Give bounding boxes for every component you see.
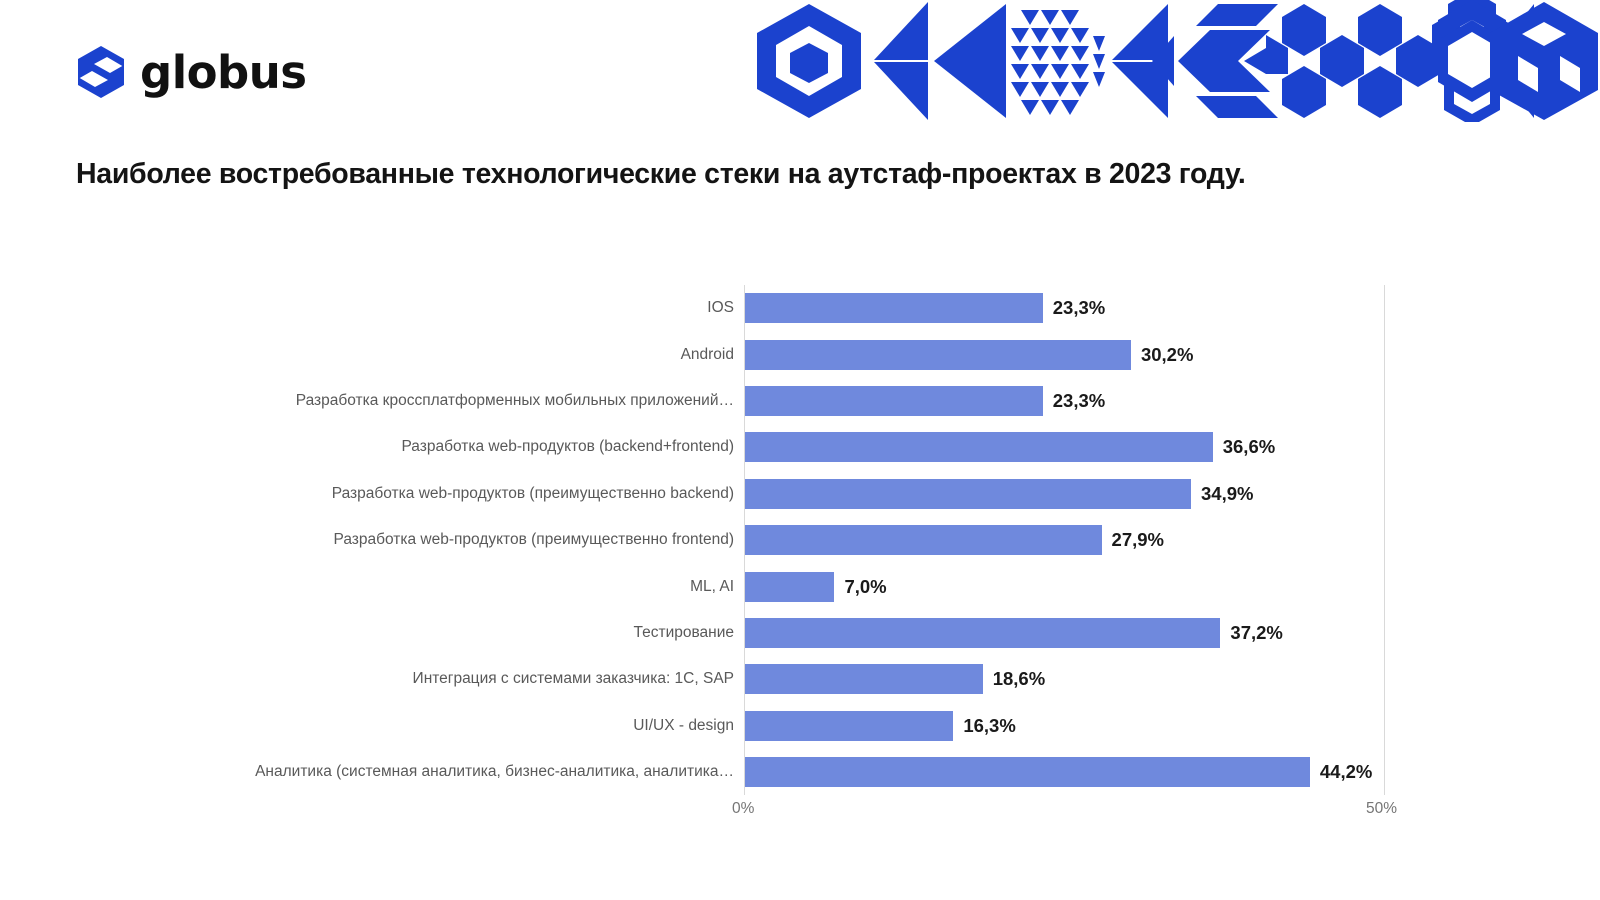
bar	[745, 479, 1191, 509]
bar-value-label: 7,0%	[844, 576, 886, 598]
category-label: Разработка кроссплатформенных мобильных …	[296, 392, 744, 410]
x-tick-50: 50%	[1366, 800, 1397, 818]
chart-row: Android30,2%	[0, 331, 1600, 377]
bar-value-label: 18,6%	[993, 668, 1045, 690]
bar	[745, 340, 1131, 370]
bar-value-label: 34,9%	[1201, 483, 1253, 505]
chart-rows: IOS23,3%Android30,2%Разработка кроссплат…	[0, 0, 1600, 510]
chart-row: Тестирование37,2%	[0, 610, 1600, 656]
bar	[745, 664, 983, 694]
category-label: IOS	[707, 299, 744, 317]
category-label: Разработка web-продуктов (backend+fronte…	[401, 438, 744, 456]
bar-chart: IOS23,3%Android30,2%Разработка кроссплат…	[0, 0, 1600, 900]
bar-value-label: 16,3%	[963, 715, 1015, 737]
category-label: Android	[681, 346, 744, 364]
category-label: Интеграция с системами заказчика: 1C, SA…	[413, 670, 744, 688]
chart-row: UI/UX - design16,3%	[0, 703, 1600, 749]
category-label: ML, AI	[690, 578, 744, 596]
bar-value-label: 44,2%	[1320, 761, 1372, 783]
bar-value-label: 23,3%	[1053, 390, 1105, 412]
chart-row: Разработка web-продуктов (преимущественн…	[0, 471, 1600, 517]
category-label: Аналитика (системная аналитика, бизнес-а…	[255, 763, 744, 781]
chart-row: Разработка кроссплатформенных мобильных …	[0, 378, 1600, 424]
bar	[745, 525, 1102, 555]
chart-row: Интеграция с системами заказчика: 1C, SA…	[0, 656, 1600, 702]
bar-value-label: 27,9%	[1112, 529, 1164, 551]
bar	[745, 757, 1310, 787]
bar-value-label: 37,2%	[1230, 622, 1282, 644]
bar	[745, 432, 1213, 462]
bar-value-label: 36,6%	[1223, 436, 1275, 458]
bar	[745, 711, 953, 741]
bar-value-label: 23,3%	[1053, 297, 1105, 319]
category-label: Разработка web-продуктов (преимущественн…	[332, 485, 744, 503]
x-tick-0: 0%	[732, 800, 754, 818]
chart-row: ML, AI7,0%	[0, 563, 1600, 609]
bar	[745, 572, 834, 602]
bar-value-label: 30,2%	[1141, 344, 1193, 366]
bar	[745, 293, 1043, 323]
category-label: Разработка web-продуктов (преимущественн…	[334, 531, 745, 549]
bar	[745, 618, 1220, 648]
chart-row: IOS23,3%	[0, 285, 1600, 331]
category-label: Тестирование	[634, 624, 745, 642]
chart-row: Разработка web-продуктов (backend+fronte…	[0, 424, 1600, 470]
chart-row: Разработка web-продуктов (преимущественн…	[0, 517, 1600, 563]
category-label: UI/UX - design	[633, 717, 744, 735]
chart-row: Аналитика (системная аналитика, бизнес-а…	[0, 749, 1600, 795]
bar	[745, 386, 1043, 416]
